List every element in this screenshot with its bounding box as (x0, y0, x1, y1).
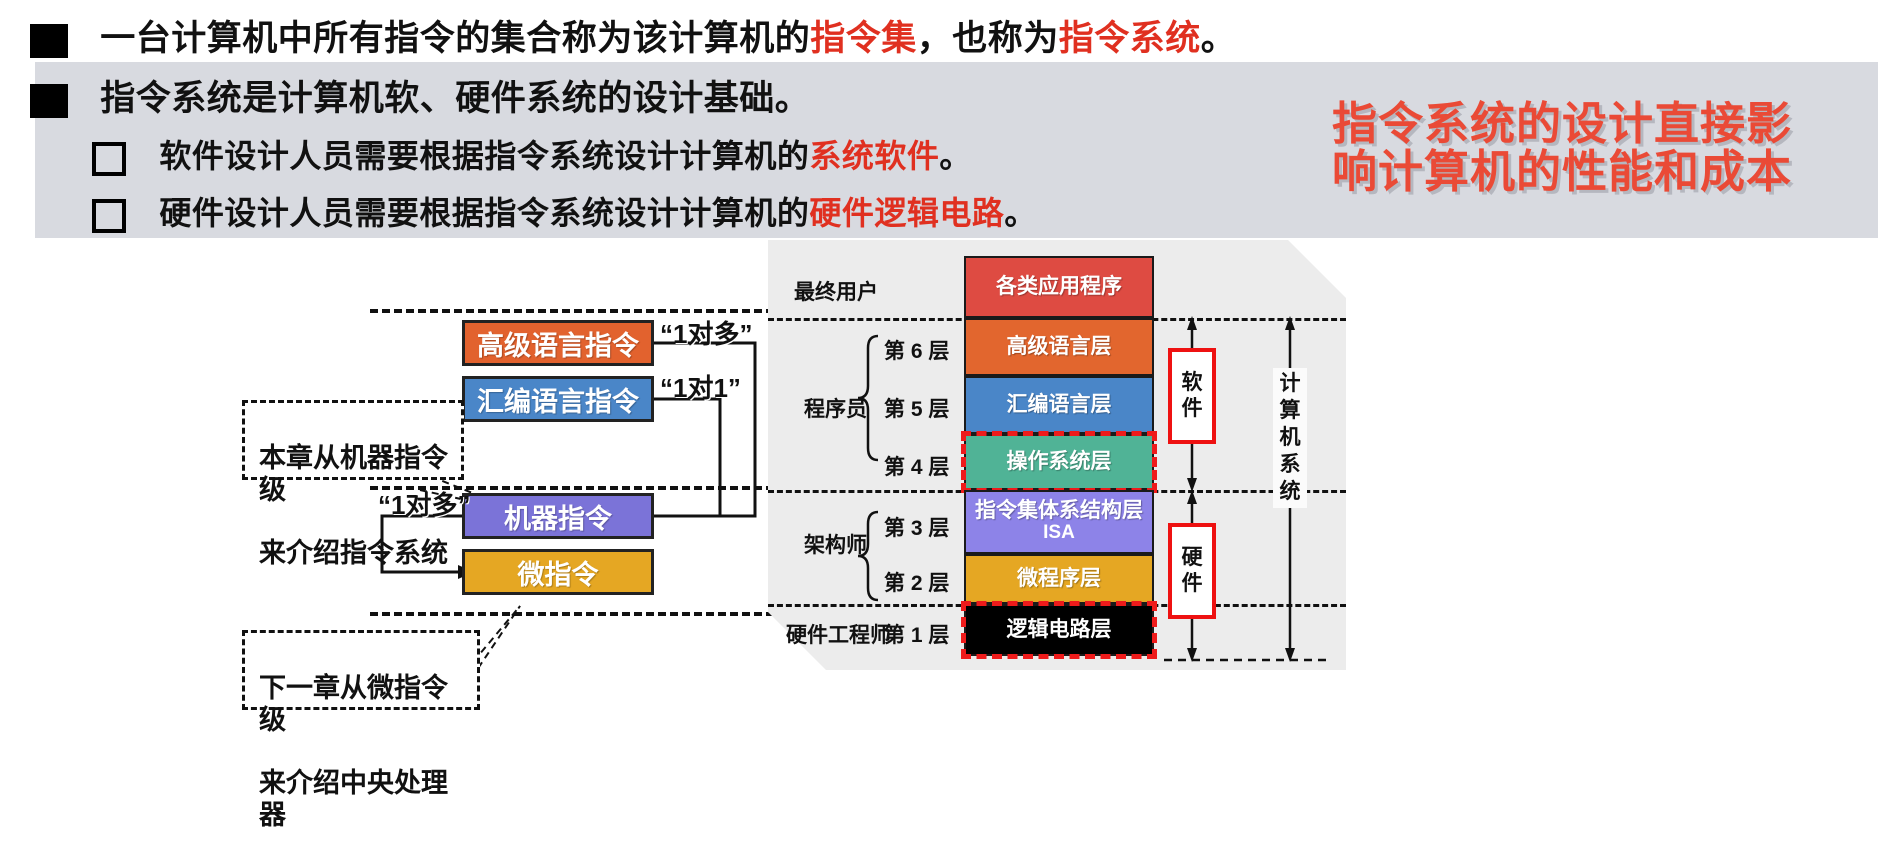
bullet-4-seg-2: 。 (1004, 195, 1037, 231)
bullet-2-text: 指令系统是计算机软、硬件系统的设计基础。 (100, 79, 810, 118)
hollow-square-icon (92, 142, 126, 176)
slogan-line-1: 指令系统的设计直接影 (1258, 100, 1866, 148)
bullet-4-seg-1: 硬件逻辑电路 (809, 195, 1004, 231)
hollow-square-icon (92, 199, 126, 233)
bullet-4: 硬件设计人员需要根据指令系统设计计算机的硬件逻辑电路。 (92, 188, 1037, 234)
box-label: 汇编语言指令 (477, 380, 639, 419)
side-box-line-1: 软 (1182, 370, 1203, 396)
callout-next-chapter-cpu: 下一章从微指令级 来介绍中央处理器 (242, 630, 480, 710)
bullet-1: 一台计算机中所有指令的集合称为该计算机的指令集，也称为指令系统。 (30, 10, 1236, 61)
callout-line-1: 本章从机器指令级 (259, 443, 449, 507)
slogan-line-2: 响计算机的性能和成本 (1258, 148, 1866, 196)
slide-text-block: 一台计算机中所有指令的集合称为该计算机的指令集，也称为指令系统。 指令系统是计算… (0, 0, 1878, 238)
bullet-1-seg-3: 指令系统 (1059, 19, 1201, 58)
computer-system-layers-diagram: 各类应用程序 高级语言层 汇编语言层 操作系统层 指令集体系结构层 ISA 微程… (768, 240, 1346, 670)
callout-line-2: 来介绍指令系统 (259, 538, 449, 570)
box-label: 机器指令 (504, 497, 612, 536)
box-micro-instruction[interactable]: 微指令 (462, 549, 654, 595)
filled-square-icon (30, 24, 68, 58)
box-high-level-language-instruction[interactable]: 高级语言指令 (462, 320, 654, 366)
bullet-3-seg-1: 系统软件 (809, 138, 939, 174)
box-assembly-language-instruction[interactable]: 汇编语言指令 (462, 376, 654, 422)
side-box-line-1: 硬 (1182, 545, 1203, 571)
filled-square-icon (30, 84, 68, 118)
box-label: 微指令 (518, 553, 599, 592)
relation-tag-one-to-many-top: “1对多” (660, 314, 752, 351)
callout-line-2: 来介绍中央处理器 (259, 768, 465, 832)
bullet-1-seg-4: 。 (1201, 19, 1237, 58)
bullet-3: 软件设计人员需要根据指令系统设计计算机的系统软件。 (92, 131, 972, 177)
bullet-2: 指令系统是计算机软、硬件系统的设计基础。 (30, 70, 810, 121)
relation-tag-one-to-one: “1对1” (660, 368, 741, 405)
slogan-text: 指令系统的设计直接影 响计算机的性能和成本 (1258, 100, 1866, 196)
box-machine-instruction[interactable]: 机器指令 (462, 493, 654, 539)
bullet-3-seg-2: 。 (939, 138, 972, 174)
callout-line-1: 下一章从微指令级 (259, 673, 465, 737)
vertical-label-text: 计算机系统 (1273, 371, 1307, 505)
side-box-software: 软 件 (1168, 348, 1216, 444)
bullet-3-seg-0: 软件设计人员需要根据指令系统设计计算机的 (159, 138, 809, 174)
side-box-line-2: 件 (1182, 571, 1203, 597)
bullet-4-seg-0: 硬件设计人员需要根据指令系统设计计算机的 (159, 195, 809, 231)
bullet-1-seg-0: 一台计算机中所有指令的集合称为该计算机的 (100, 19, 810, 58)
vertical-label-computer-system: 计算机系统 (1273, 368, 1307, 508)
callout-chapter-machine-instruction: 本章从机器指令级 来介绍指令系统 (242, 400, 464, 480)
bullet-1-seg-2: ，也称为 (917, 19, 1059, 58)
brace-and-arrow-overlay (768, 240, 1346, 670)
side-box-line-2: 件 (1182, 396, 1203, 422)
bullet-1-seg-1: 指令集 (810, 19, 917, 58)
side-box-hardware: 硬 件 (1168, 523, 1216, 619)
box-label: 高级语言指令 (477, 324, 639, 363)
